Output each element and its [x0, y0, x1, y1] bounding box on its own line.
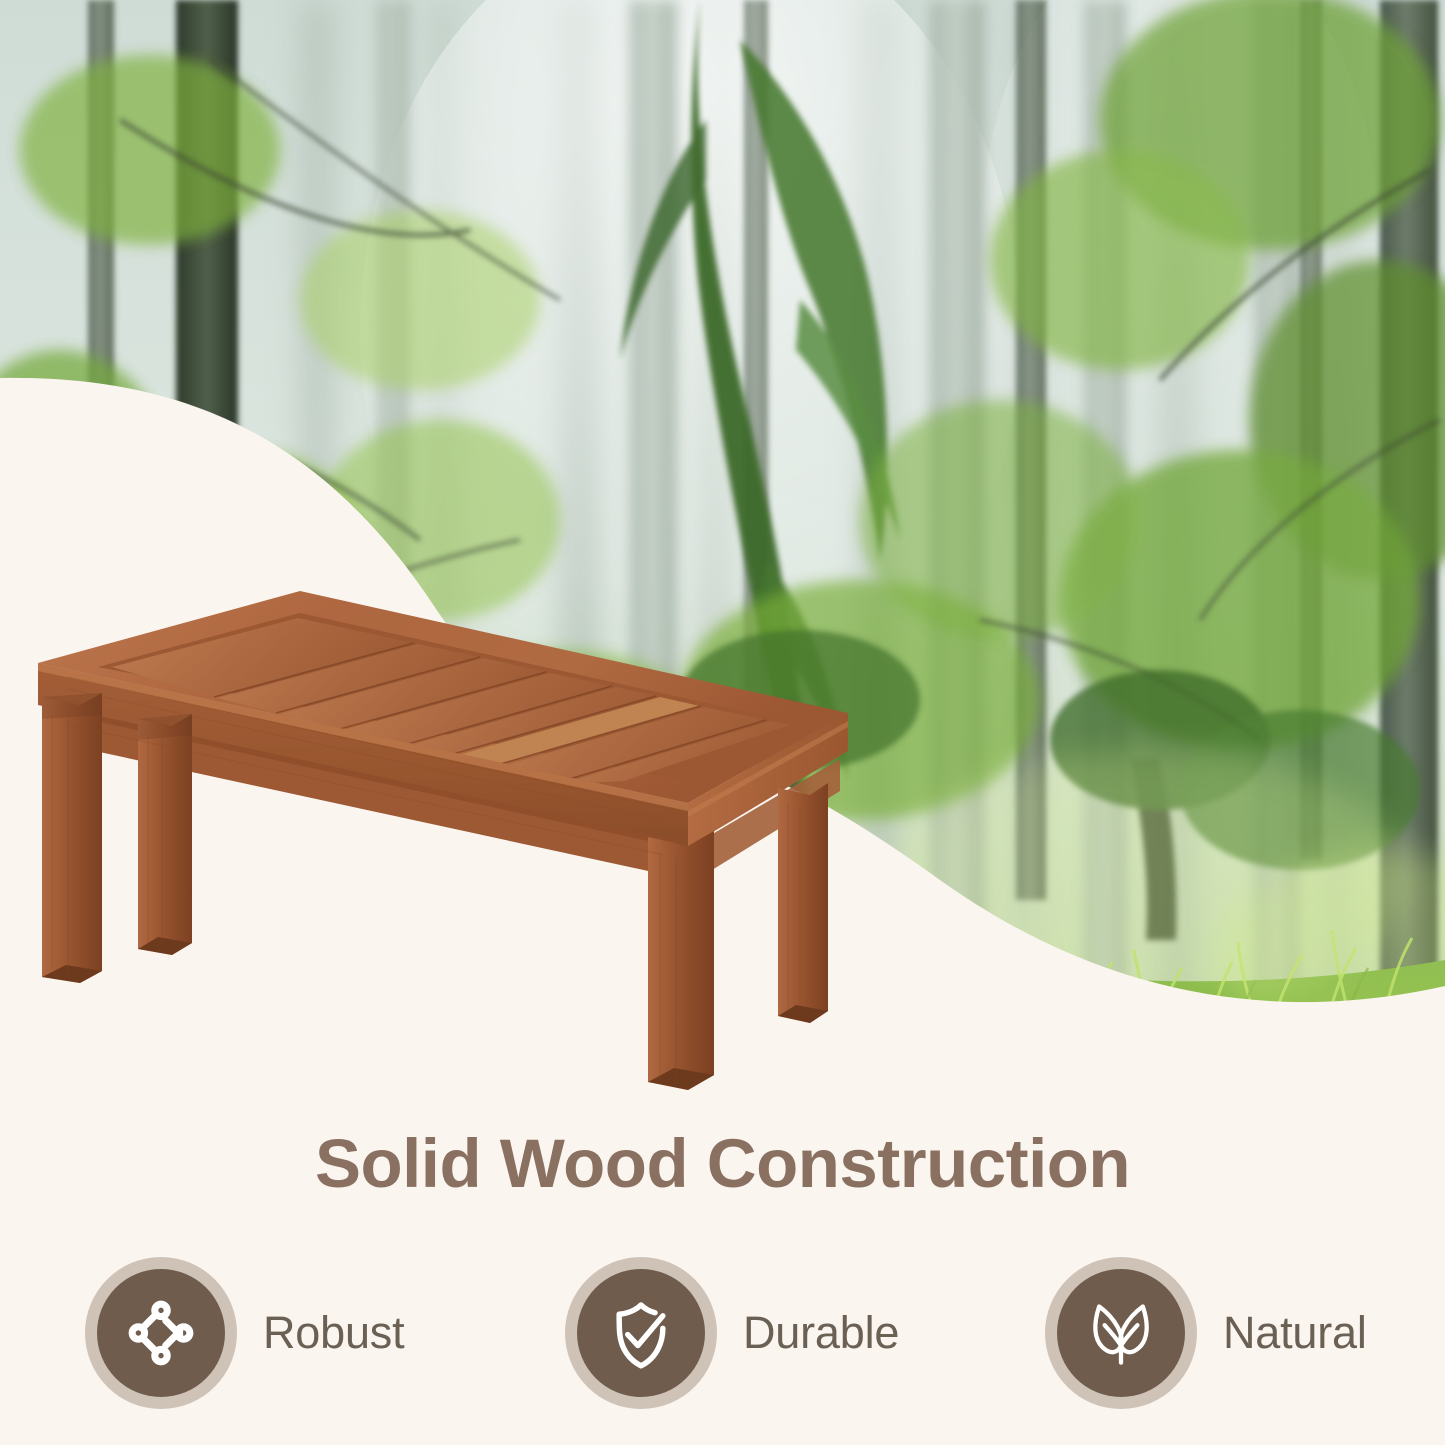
shield-check-icon: [577, 1269, 705, 1397]
page-title: Solid Wood Construction: [0, 1124, 1445, 1203]
feature-item-robust: Robust: [85, 1255, 404, 1410]
bench-product-image: [28, 585, 858, 1090]
badge-durable: [565, 1257, 717, 1409]
feature-list: Robust Durable: [0, 1255, 1445, 1415]
product-feature-card: Solid Wood Construction: [0, 0, 1445, 1445]
feature-label-robust: Robust: [263, 1307, 404, 1359]
badge-natural: [1045, 1257, 1197, 1409]
leaves-icon: [1057, 1269, 1185, 1397]
feature-item-natural: Natural: [1045, 1255, 1367, 1410]
network-nodes-icon: [97, 1269, 225, 1397]
badge-robust: [85, 1257, 237, 1409]
feature-label-natural: Natural: [1223, 1307, 1367, 1359]
feature-item-durable: Durable: [565, 1255, 899, 1410]
feature-label-durable: Durable: [743, 1307, 899, 1359]
